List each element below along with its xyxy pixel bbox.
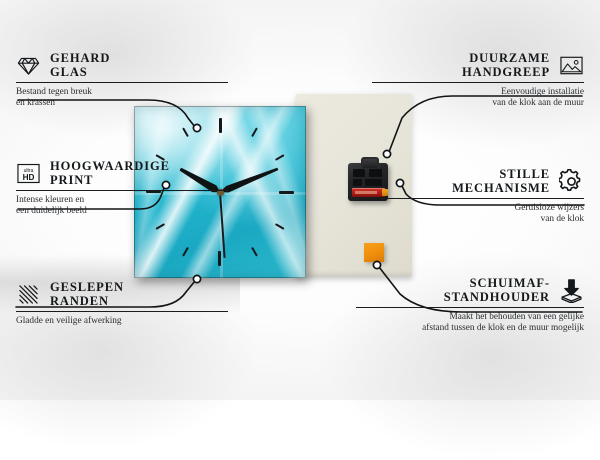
callout-header: GESLEPEN RANDEN: [16, 281, 228, 308]
gear-icon: [559, 169, 584, 194]
callout-header: STILLE MECHANISME: [372, 168, 584, 195]
callout-rule: [356, 307, 584, 308]
callout-header: ultra HD HOOGWAARDIGE PRINT: [16, 160, 228, 187]
callout-title: SCHUIMAF- STANDHOUDER: [444, 277, 550, 304]
movement-slot: [353, 169, 365, 177]
down-arrow-platform-icon: [559, 278, 584, 303]
callout-gehard-glas[interactable]: GEHARD GLAS Bestand tegen breuk en krass…: [16, 52, 228, 110]
diamond-icon: [16, 53, 41, 78]
callout-title: GEHARD GLAS: [50, 52, 110, 79]
callout-rule: [16, 311, 228, 312]
callout-rule: [372, 82, 584, 83]
foam-spacer: [364, 243, 384, 262]
callout-header: GEHARD GLAS: [16, 52, 228, 79]
callout-duurzame-handgreep[interactable]: DUURZAME HANDGREEP Eenvoudige installati…: [372, 52, 584, 110]
callout-description: Geruisloze wijzers van de klok: [372, 203, 584, 226]
bevelled-edges-icon: [16, 282, 41, 307]
callout-description: Maakt het behouden van een gelijke afsta…: [356, 312, 584, 335]
movement-hanger: [361, 157, 379, 168]
callout-title: GESLEPEN RANDEN: [50, 281, 124, 308]
callout-description: Eenvoudige installatie van de klok aan d…: [372, 87, 584, 110]
callout-geslepen-randen[interactable]: GESLEPEN RANDEN Gladde en veilige afwerk…: [16, 281, 228, 327]
callout-rule: [372, 198, 584, 199]
movement-slot: [353, 179, 362, 186]
callout-stille-mechanisme[interactable]: STILLE MECHANISME Geruisloze wijzers van…: [372, 168, 584, 226]
callout-title: HOOGWAARDIGE PRINT: [50, 160, 170, 187]
callout-rule: [16, 190, 228, 191]
callout-title: DUURZAME HANDGREEP: [462, 52, 550, 79]
callout-description: Intense kleuren en een duidelijk beeld: [16, 195, 228, 218]
callout-description: Gladde en veilige afwerking: [16, 316, 228, 327]
picture-frame-icon: [559, 53, 584, 78]
ultra-hd-icon: ultra HD: [16, 161, 41, 186]
callout-rule: [16, 82, 228, 83]
callout-header: DUURZAME HANDGREEP: [372, 52, 584, 79]
infographic-canvas: GEHARD GLAS Bestand tegen breuk en krass…: [0, 0, 600, 400]
callout-header: SCHUIMAF- STANDHOUDER: [356, 277, 584, 304]
svg-text:HD: HD: [23, 173, 35, 182]
callout-hoogwaardige-print[interactable]: ultra HD HOOGWAARDIGE PRINT Intense kleu…: [16, 160, 228, 218]
callout-description: Bestand tegen breuk en krassen: [16, 87, 228, 110]
callout-schuimaf-standhouder[interactable]: SCHUIMAF- STANDHOUDER Maakt het behouden…: [356, 277, 584, 335]
callout-title: STILLE MECHANISME: [452, 168, 550, 195]
